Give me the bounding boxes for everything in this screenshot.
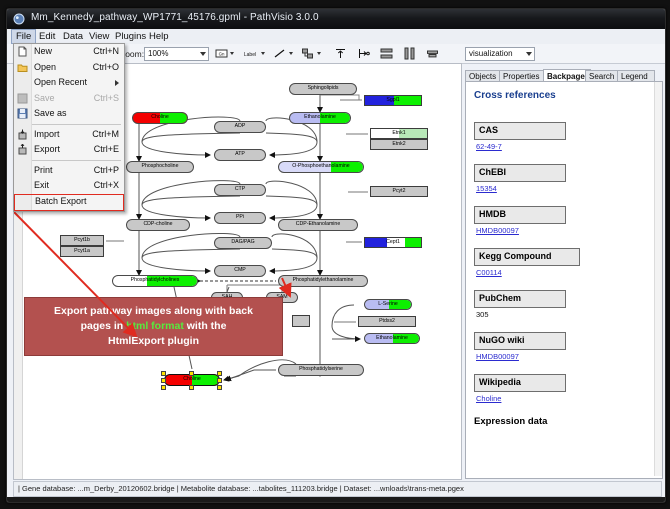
selection-handle[interactable] bbox=[217, 378, 222, 383]
backpage-content: Cross references CAS 62-49-7 ChEBI 15354… bbox=[465, 81, 663, 479]
annotation-line-3: HtmlExport plugin bbox=[108, 335, 199, 347]
annotation-callout: Export pathway images along with back pa… bbox=[24, 297, 283, 356]
node-sgpl1[interactable]: Sgpl1 bbox=[364, 95, 422, 106]
node-pcyt2[interactable]: Pcyt2 bbox=[370, 186, 428, 197]
node-sphingolipids[interactable]: Sphingolipids bbox=[289, 83, 357, 95]
menu-help[interactable]: Help bbox=[145, 30, 173, 43]
selection-handle[interactable] bbox=[161, 385, 166, 390]
application-window: Mm_Kennedy_pathway_WP1771_45176.gpml - P… bbox=[6, 8, 666, 503]
save-as-icon bbox=[17, 108, 28, 119]
window-title: Mm_Kennedy_pathway_WP1771_45176.gpml - P… bbox=[31, 12, 319, 23]
node-phosphatidylcholines[interactable]: Phosphatidylcholines bbox=[112, 275, 198, 287]
db-value-wikipedia[interactable]: Choline bbox=[476, 394, 501, 403]
status-bar: | Gene database: ...m_Derby_20120602.bri… bbox=[13, 481, 662, 497]
folder-open-icon bbox=[17, 62, 28, 73]
db-value-hmdb[interactable]: HMDB00097 bbox=[476, 226, 519, 235]
node-ppi[interactable]: PPi bbox=[214, 212, 266, 224]
right-panel: Objects Properties Backpage Search Legen… bbox=[463, 47, 663, 478]
selection-handle[interactable] bbox=[217, 371, 222, 376]
label-dropdown-arrow-icon[interactable] bbox=[261, 52, 265, 55]
label-tool-icon[interactable]: Label bbox=[241, 47, 259, 60]
node-phosphatidylserine[interactable]: Phosphatidylserine bbox=[278, 364, 364, 376]
window-bottom-edge bbox=[7, 497, 665, 502]
selection-handle[interactable] bbox=[161, 378, 166, 383]
node-unlabeled-box[interactable] bbox=[292, 315, 310, 327]
selection-handle[interactable] bbox=[217, 385, 222, 390]
selection-handle[interactable] bbox=[189, 385, 194, 390]
node-o-phosphoethanolamine[interactable]: O-Phosphoethanolamine bbox=[278, 161, 364, 173]
node-fill-left bbox=[365, 238, 387, 247]
db-header-chebi: ChEBI bbox=[474, 164, 566, 182]
import-icon bbox=[17, 129, 28, 140]
node-adp[interactable]: ADP bbox=[214, 121, 266, 133]
line-dropdown-arrow-icon[interactable] bbox=[289, 52, 293, 55]
annotation-text: Export pathway images along with back pa… bbox=[48, 304, 259, 349]
db-header-kegg: Kegg Compound bbox=[474, 248, 580, 266]
line-tool-icon[interactable] bbox=[273, 47, 286, 60]
db-header-hmdb: HMDB bbox=[474, 206, 566, 224]
annotation-line-2-highlight: html format bbox=[126, 320, 184, 332]
node-pcyt1a[interactable]: Pcyt1a bbox=[60, 246, 104, 257]
node-choline-top[interactable]: Choline bbox=[132, 112, 188, 124]
db-header-nugo: NuGO wiki bbox=[474, 332, 566, 350]
db-value-kegg[interactable]: C00114 bbox=[476, 268, 502, 277]
menu-item-batch-export[interactable]: Batch Export bbox=[14, 194, 124, 212]
datanode-tool-icon[interactable]: Gn bbox=[215, 47, 228, 60]
node-ptdss2[interactable]: Ptdss2 bbox=[358, 316, 416, 327]
screenshot-root: Mm_Kennedy_pathway_WP1771_45176.gpml - P… bbox=[0, 0, 670, 509]
node-phosphocholine[interactable]: Phosphocholine bbox=[126, 161, 194, 173]
cross-references-title: Cross references bbox=[474, 90, 556, 101]
menu-item-new[interactable]: New Ctrl+N bbox=[14, 44, 124, 60]
node-etnk1[interactable]: Etnk1 bbox=[370, 128, 428, 139]
db-header-wikipedia: Wikipedia bbox=[474, 374, 566, 392]
menu-separator bbox=[17, 160, 121, 161]
menu-separator bbox=[17, 124, 121, 125]
datanode-dropdown-arrow-icon[interactable] bbox=[230, 52, 234, 55]
db-value-nugo[interactable]: HMDB00097 bbox=[476, 352, 519, 361]
db-value-chebi[interactable]: 15354 bbox=[476, 184, 497, 193]
node-cdp-choline[interactable]: CDP-choline bbox=[126, 219, 190, 231]
save-icon bbox=[17, 93, 28, 104]
db-header-pubchem: PubChem bbox=[474, 290, 566, 308]
distribute-vertical-icon[interactable] bbox=[380, 47, 393, 60]
node-etnk2[interactable]: Etnk2 bbox=[370, 139, 428, 150]
menu-item-open-recent[interactable]: Open Recent bbox=[14, 75, 124, 91]
zoom-combo[interactable]: 100% bbox=[144, 47, 209, 61]
db-value-cas[interactable]: 62-49-7 bbox=[476, 142, 502, 151]
node-pcyt1b[interactable]: Pcyt1b bbox=[60, 235, 104, 246]
menu-edit[interactable]: Edit bbox=[35, 30, 59, 43]
menu-view[interactable]: View bbox=[85, 30, 113, 43]
node-atp[interactable]: ATP bbox=[214, 149, 266, 161]
file-menu-dropdown[interactable]: New Ctrl+N Open Ctrl+O Open Recent Save … bbox=[13, 43, 125, 212]
menu-item-import[interactable]: Import Ctrl+M bbox=[14, 127, 124, 143]
node-ethanolamine-top[interactable]: Ethanolamine bbox=[289, 112, 351, 124]
expression-data-title: Expression data bbox=[474, 416, 547, 427]
backpage-scrollbar[interactable] bbox=[654, 82, 662, 476]
anchor-dropdown-arrow-icon[interactable] bbox=[317, 52, 321, 55]
svg-text:Gn: Gn bbox=[219, 52, 225, 57]
node-dag-pag[interactable]: DAG/PAG bbox=[214, 237, 272, 249]
stack-icon[interactable] bbox=[426, 47, 439, 60]
selection-handle[interactable] bbox=[161, 371, 166, 376]
annotation-line-1: Export pathway images along with back bbox=[54, 305, 253, 317]
distribute-horizontal-icon[interactable] bbox=[403, 47, 416, 60]
menu-item-export[interactable]: Export Ctrl+E bbox=[14, 142, 124, 158]
align-left-icon[interactable] bbox=[357, 47, 370, 60]
align-top-icon[interactable] bbox=[334, 47, 347, 60]
svg-text:Label: Label bbox=[244, 52, 256, 58]
node-ctp[interactable]: CTP bbox=[214, 184, 266, 196]
db-header-cas: CAS bbox=[474, 122, 566, 140]
selection-handle[interactable] bbox=[189, 371, 194, 376]
title-bar: Mm_Kennedy_pathway_WP1771_45176.gpml - P… bbox=[7, 9, 665, 30]
menu-data[interactable]: Data bbox=[59, 30, 87, 43]
menu-item-save-as[interactable]: Save as bbox=[14, 106, 124, 122]
status-bar-text: | Gene database: ...m_Derby_20120602.bri… bbox=[18, 484, 464, 493]
node-l-serine[interactable]: L-Serine bbox=[364, 299, 412, 310]
chevron-down-icon bbox=[200, 52, 206, 56]
export-icon bbox=[17, 144, 28, 155]
zoom-value: 100% bbox=[148, 48, 168, 60]
node-cmp[interactable]: CMP bbox=[214, 265, 266, 277]
menu-item-save: Save Ctrl+S bbox=[14, 91, 124, 107]
annotation-line-2-post: with the bbox=[184, 320, 227, 332]
menu-item-print[interactable]: Print Ctrl+P bbox=[14, 163, 124, 179]
annotation-line-2-pre: pages in bbox=[81, 320, 127, 332]
pathvisio-app-icon bbox=[13, 13, 25, 25]
new-document-icon bbox=[17, 46, 28, 57]
submenu-arrow-icon bbox=[115, 80, 119, 86]
menu-item-open[interactable]: Open Ctrl+O bbox=[14, 60, 124, 76]
node-phosphatidylethanolamine[interactable]: Phosphatidylethanolamine bbox=[278, 275, 368, 287]
anchor-tool-icon[interactable] bbox=[301, 47, 314, 60]
node-cdp-ethanolamine[interactable]: CDP-Ethanolamine bbox=[278, 219, 358, 231]
node-cept1[interactable]: Cept1 bbox=[364, 237, 422, 248]
node-fill-right bbox=[405, 238, 421, 247]
menu-file[interactable]: File bbox=[11, 29, 36, 44]
menu-item-exit[interactable]: Exit Ctrl+X bbox=[14, 178, 124, 194]
node-ethanolamine-bottom[interactable]: Ethanolamine bbox=[364, 333, 420, 344]
db-value-pubchem: 305 bbox=[476, 310, 489, 319]
